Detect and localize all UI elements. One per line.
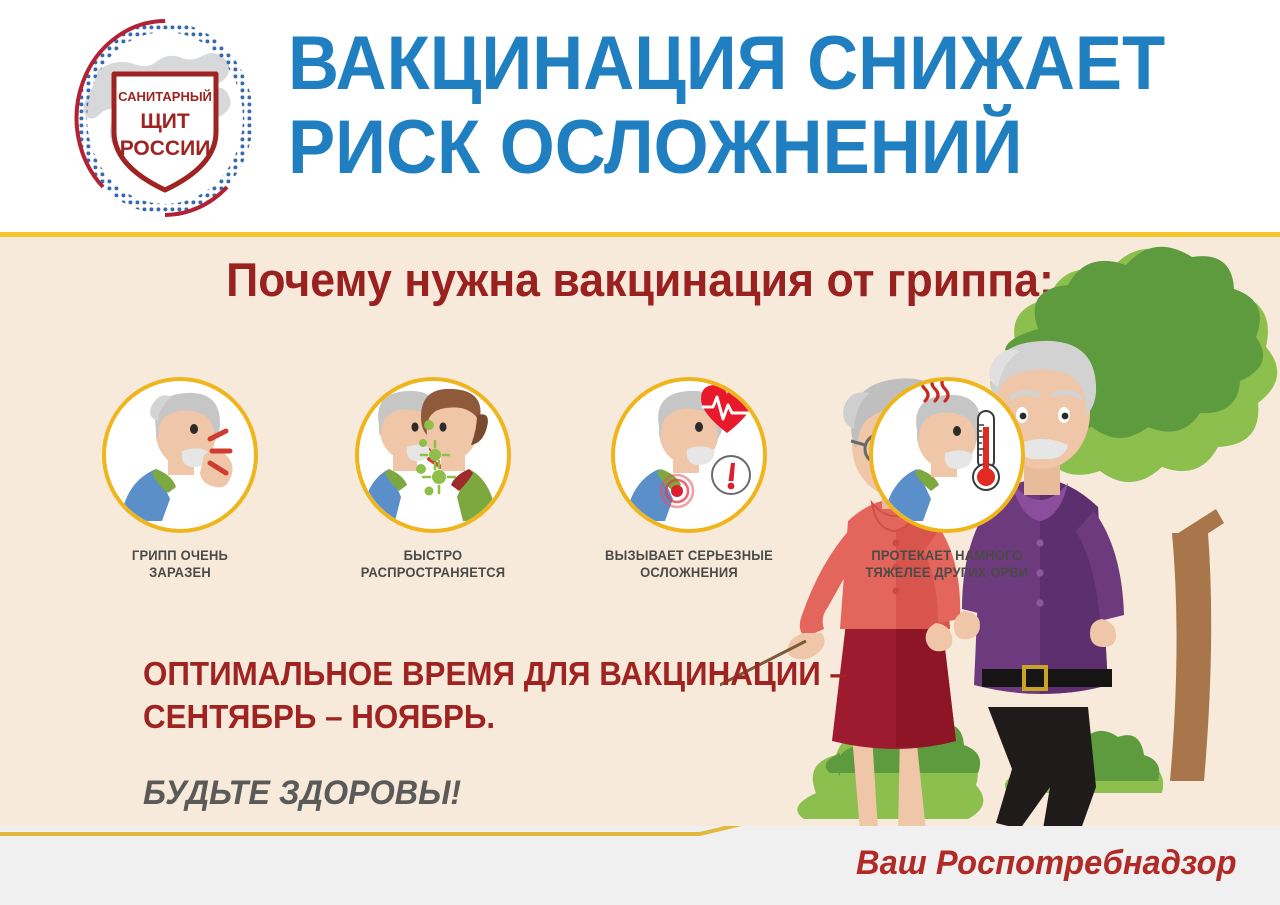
call-to-action-block: ОПТИМАЛЬНОЕ ВРЕМЯ ДЛЯ ВАКЦИНАЦИИ – СЕНТЯ… (143, 652, 903, 813)
title-line-1: ВАКЦИНАЦИЯ СНИЖАЕТ (288, 22, 1199, 106)
logo-line-3: РОССИИ (120, 137, 211, 160)
reason-card-more-severe-than-ari: ПРОТЕКАЕТ НАМНОГО ТЯЖЕЛЕЕ ДРУГИХ ОРВИ (827, 377, 1067, 581)
cta-line-2: СЕНТЯБРЬ – НОЯБРЬ. (143, 695, 865, 738)
warning-badge (712, 456, 750, 494)
reason-caption: ВЫЗЫВАЕТ СЕРЬЕЗНЫЕ ОСЛОЖНЕНИЯ (574, 547, 804, 581)
footer-signature: Ваш Роспотребнадзор (856, 844, 1237, 883)
reasons-row: ГРИПП ОЧЕНЬ ЗАРАЗЕН (60, 377, 1070, 607)
reason-caption: БЫСТРО РАСПРОСТРАНЯЕТСЯ (318, 547, 548, 581)
sanitary-shield-of-russia-emblem: САНИТАРНЫЙ ЩИТ РОССИИ (58, 18, 273, 218)
title-line-2: РИСК ОСЛОЖНЕНИЙ (288, 106, 1199, 190)
reason-card-serious-complications: ВЫЗЫВАЕТ СЕРЬЕЗНЫЕ ОСЛОЖНЕНИЯ (569, 377, 809, 581)
fever-thermometer-icon (869, 377, 1025, 533)
be-healthy-slogan: БУДЬТЕ ЗДОРОВЫ! (143, 774, 865, 813)
poster-header: САНИТАРНЫЙ ЩИТ РОССИИ ВАКЦИНАЦИЯ СНИЖАЕТ… (0, 0, 1280, 235)
logo-line-1: САНИТАРНЫЙ (118, 89, 212, 104)
reason-caption: ПРОТЕКАЕТ НАМНОГО ТЯЖЕЛЕЕ ДРУГИХ ОРВИ (832, 547, 1062, 581)
reason-caption: ГРИПП ОЧЕНЬ ЗАРАЗЕН (65, 547, 295, 581)
coughing-person-icon (102, 377, 258, 533)
heart-ecg-warning-icon (611, 377, 767, 533)
logo-line-2: ЩИТ (140, 110, 189, 133)
cta-line-1: ОПТИМАЛЬНОЕ ВРЕМЯ ДЛЯ ВАКЦИНАЦИИ – (143, 652, 865, 695)
pain-point (661, 475, 693, 507)
tree-trunk (1170, 533, 1211, 781)
poster-footer: Ваш Роспотребнадзор (0, 826, 1280, 905)
section-subtitle: Почему нужна вакцинация от гриппа: (32, 252, 1248, 308)
poster-body: Почему нужна вакцинация от гриппа: (0, 237, 1280, 905)
reason-card-spreads-fast: БЫСТРО РАСПРОСТРАНЯЕТСЯ (313, 377, 553, 581)
reason-card-flu-very-contagious: ГРИПП ОЧЕНЬ ЗАРАЗЕН (60, 377, 300, 581)
poster-root: САНИТАРНЫЙ ЩИТ РОССИИ ВАКЦИНАЦИЯ СНИЖАЕТ… (0, 0, 1280, 905)
page-title: ВАКЦИНАЦИЯ СНИЖАЕТ РИСК ОСЛОЖНЕНИЙ (288, 22, 1268, 190)
two-people-virus-spread-icon (355, 377, 511, 533)
